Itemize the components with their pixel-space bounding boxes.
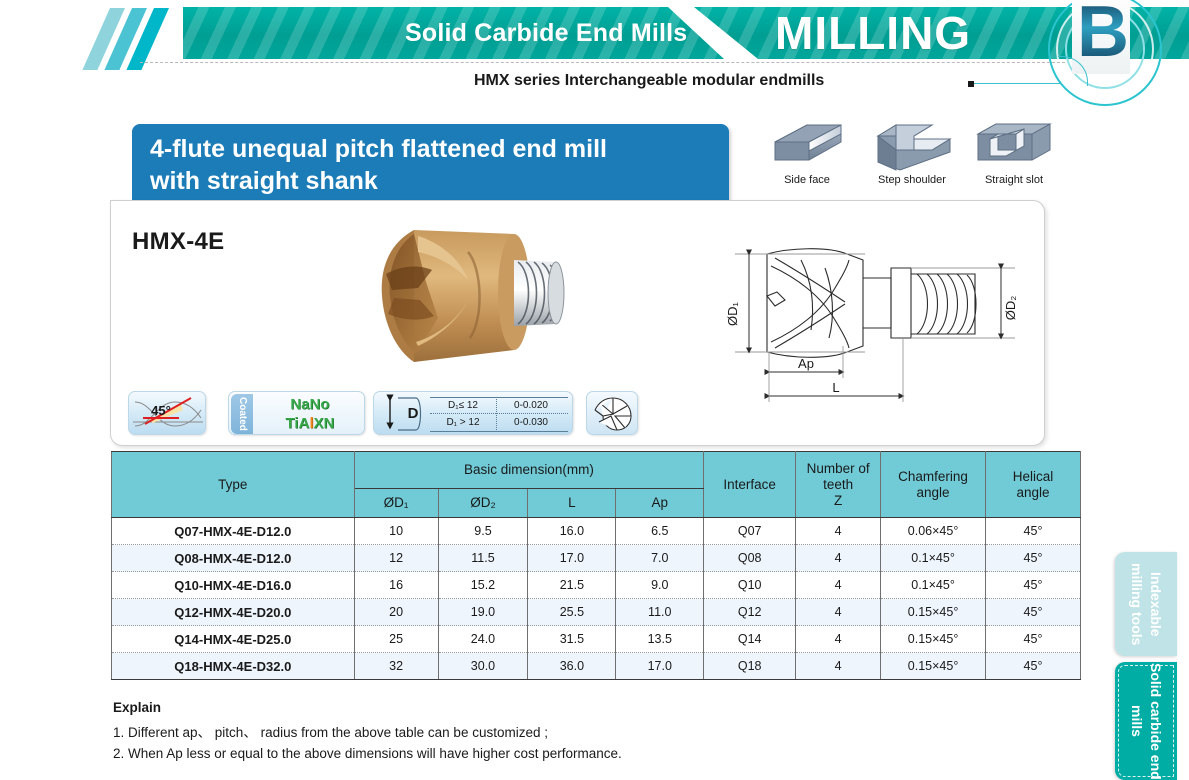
- product-title-line-1: 4-flute unequal pitch flattened end mill: [150, 133, 729, 165]
- cell-l: 16.0: [528, 518, 616, 545]
- table-row: Q18-HMX-4E-D32.03230.036.017.0Q1840.15×4…: [112, 653, 1081, 680]
- table-row: Q12-HMX-4E-D20.02019.025.511.0Q1240.15×4…: [112, 599, 1081, 626]
- th-basic-dimension: Basic dimension(mm): [354, 452, 704, 489]
- tolerance-value: 0-0.020: [496, 400, 566, 411]
- explain-heading: Explain: [113, 700, 813, 715]
- product-title-line-2: with straight shank: [150, 165, 729, 197]
- helix-angle-value: 45°: [151, 403, 171, 418]
- th-interface: Interface: [704, 452, 796, 518]
- subtitle-leader-line: [974, 83, 1062, 84]
- technical-drawing: ØD₁ ØD₂ Ap L: [715, 238, 1055, 413]
- product-photo: [318, 222, 586, 372]
- cell-type: Q18-HMX-4E-D32.0: [112, 653, 355, 680]
- th-chamfering-angle: Chamfering angle: [881, 452, 986, 518]
- cell-chamfer: 0.1×45°: [881, 545, 986, 572]
- application-label: Straight slot: [962, 174, 1066, 186]
- cell-interface: Q14: [704, 626, 796, 653]
- th-type: Type: [112, 452, 355, 518]
- cell-ap: 9.0: [616, 572, 704, 599]
- cell-teeth: 4: [796, 626, 881, 653]
- cell-l: 36.0: [528, 653, 616, 680]
- cell-type: Q10-HMX-4E-D16.0: [112, 572, 355, 599]
- milling-wordmark: MILLING: [775, 8, 971, 58]
- application-side-face: Side face: [755, 120, 859, 186]
- cell-helical: 45°: [986, 545, 1081, 572]
- cell-helical: 45°: [986, 653, 1081, 680]
- tolerance-table: D₁≤ 12 0-0.020 D₁ > 12 0-0.030: [430, 397, 568, 431]
- coating-xn: XN: [314, 415, 335, 432]
- flute-count-badge: [586, 391, 638, 435]
- side-face-icon: [755, 120, 859, 172]
- coating-name: NaNo TiAlXN: [257, 395, 363, 433]
- coated-label: Coated: [231, 394, 253, 434]
- drawing-label-d1: ØD₁: [725, 301, 740, 326]
- cell-teeth: 4: [796, 653, 881, 680]
- specification-table: Type Basic dimension(mm) Interface Numbe…: [111, 451, 1081, 680]
- cell-teeth: 4: [796, 545, 881, 572]
- cell-l: 25.5: [528, 599, 616, 626]
- application-step-shoulder: Step shoulder: [860, 120, 964, 186]
- cell-helical: 45°: [986, 572, 1081, 599]
- cell-d2: 30.0: [438, 653, 528, 680]
- cell-type: Q12-HMX-4E-D20.0: [112, 599, 355, 626]
- th-d1: ØD₁: [354, 489, 438, 518]
- cell-helical: 45°: [986, 599, 1081, 626]
- cell-helical: 45°: [986, 626, 1081, 653]
- cell-interface: Q10: [704, 572, 796, 599]
- cell-l: 31.5: [528, 626, 616, 653]
- cell-helical: 45°: [986, 518, 1081, 545]
- application-label: Step shoulder: [860, 174, 964, 186]
- step-shoulder-icon: [860, 120, 964, 172]
- drawing-label-l: L: [832, 380, 839, 395]
- cell-ap: 6.5: [616, 518, 704, 545]
- cell-d2: 15.2: [438, 572, 528, 599]
- side-tab-group: Indexable milling tools Solid carbide en…: [1115, 552, 1189, 780]
- side-tab-label: Solid carbide end mills: [1127, 662, 1165, 780]
- cell-d2: 11.5: [438, 545, 528, 572]
- tolerance-d-symbol: D: [396, 402, 430, 426]
- cell-d1: 25: [354, 626, 438, 653]
- cell-chamfer: 0.1×45°: [881, 572, 986, 599]
- cell-d1: 12: [354, 545, 438, 572]
- model-name: HMX-4E: [132, 228, 224, 256]
- cell-teeth: 4: [796, 518, 881, 545]
- cell-interface: Q07: [704, 518, 796, 545]
- table-header: Type Basic dimension(mm) Interface Numbe…: [112, 452, 1081, 518]
- th-ap: Ap: [616, 489, 704, 518]
- cell-d2: 24.0: [438, 626, 528, 653]
- sidebar-item-solid-carbide-end-mills[interactable]: Solid carbide end mills: [1115, 662, 1177, 780]
- coating-nano: NaNo: [290, 396, 329, 413]
- drawing-label-d2: ØD₂: [1003, 296, 1018, 321]
- th-l: L: [528, 489, 616, 518]
- th-d2: ØD₂: [438, 489, 528, 518]
- straight-slot-icon: [962, 120, 1066, 172]
- subtitle-bullet-icon: [968, 81, 974, 87]
- sidebar-item-indexable-milling-tools[interactable]: Indexable milling tools: [1115, 552, 1177, 656]
- product-title-banner: 4-flute unequal pitch flattened end mill…: [132, 124, 729, 202]
- cell-ap: 11.0: [616, 599, 704, 626]
- cell-chamfer: 0.06×45°: [881, 518, 986, 545]
- cell-chamfer: 0.15×45°: [881, 626, 986, 653]
- table-row: Q10-HMX-4E-D16.01615.221.59.0Q1040.1×45°…: [112, 572, 1081, 599]
- cell-type: Q07-HMX-4E-D12.0: [112, 518, 355, 545]
- page-title: Solid Carbide End Mills: [405, 14, 670, 52]
- four-flute-cross-section-icon: [587, 392, 639, 436]
- cell-chamfer: 0.15×45°: [881, 599, 986, 626]
- explain-line-2: 2. When Ap less or equal to the above di…: [113, 743, 813, 764]
- cell-ap: 13.5: [616, 626, 704, 653]
- explain-section: Explain 1. Different ap、 pitch、 radius f…: [113, 700, 813, 764]
- cell-d1: 20: [354, 599, 438, 626]
- cell-type: Q14-HMX-4E-D25.0: [112, 626, 355, 653]
- th-teeth: Number of teeth Z: [796, 452, 881, 518]
- cell-interface: Q08: [704, 545, 796, 572]
- cell-d1: 10: [354, 518, 438, 545]
- cell-type: Q08-HMX-4E-D12.0: [112, 545, 355, 572]
- helix-angle-badge: 45°: [128, 391, 206, 435]
- coating-tial: TiA: [286, 415, 310, 432]
- th-helical-angle: Helical angle: [986, 452, 1081, 518]
- cell-ap: 17.0: [616, 653, 704, 680]
- drawing-label-ap: Ap: [798, 356, 814, 371]
- tolerance-condition: D₁ > 12: [430, 417, 496, 428]
- table-row: Q08-HMX-4E-D12.01211.517.07.0Q0840.1×45°…: [112, 545, 1081, 572]
- cell-d1: 16: [354, 572, 438, 599]
- application-icon-group: Side face Step shoulder Straight slot: [755, 120, 1075, 200]
- application-label: Side face: [755, 174, 859, 186]
- helix-angle-icon: 45°: [129, 392, 207, 436]
- header-dashed-divider: [140, 62, 1065, 63]
- header-slash-decoration: [108, 8, 194, 70]
- section-badge-b: B: [1046, 0, 1164, 108]
- page-header: Solid Carbide End Mills MILLING B HMX se…: [0, 0, 1189, 100]
- series-subtitle: HMX series Interchangeable modular endmi…: [474, 72, 824, 90]
- tolerance-row: D₁ > 12 0-0.030: [430, 414, 568, 431]
- application-straight-slot: Straight slot: [962, 120, 1066, 186]
- cell-interface: Q18: [704, 653, 796, 680]
- tolerance-condition: D₁≤ 12: [430, 400, 496, 411]
- cell-d2: 9.5: [438, 518, 528, 545]
- side-tab-label: Indexable milling tools: [1127, 552, 1165, 656]
- tolerance-row: D₁≤ 12 0-0.020: [430, 397, 568, 414]
- tolerance-value: 0-0.030: [496, 417, 566, 428]
- cell-d1: 32: [354, 653, 438, 680]
- table-row: Q07-HMX-4E-D12.0109.516.06.5Q0740.06×45°…: [112, 518, 1081, 545]
- cell-chamfer: 0.15×45°: [881, 653, 986, 680]
- cell-d2: 19.0: [438, 599, 528, 626]
- explain-line-1: 1. Different ap、 pitch、 radius from the …: [113, 722, 813, 743]
- cell-interface: Q12: [704, 599, 796, 626]
- cell-teeth: 4: [796, 599, 881, 626]
- cell-l: 17.0: [528, 545, 616, 572]
- cell-ap: 7.0: [616, 545, 704, 572]
- table-body: Q07-HMX-4E-D12.0109.516.06.5Q0740.06×45°…: [112, 518, 1081, 680]
- cell-teeth: 4: [796, 572, 881, 599]
- coating-badge: Coated NaNo TiAlXN: [228, 391, 365, 435]
- cell-l: 21.5: [528, 572, 616, 599]
- diameter-tolerance-badge: D D₁≤ 12 0-0.020 D₁ > 12 0-0.030: [373, 391, 573, 435]
- table-row: Q14-HMX-4E-D25.02524.031.513.5Q1440.15×4…: [112, 626, 1081, 653]
